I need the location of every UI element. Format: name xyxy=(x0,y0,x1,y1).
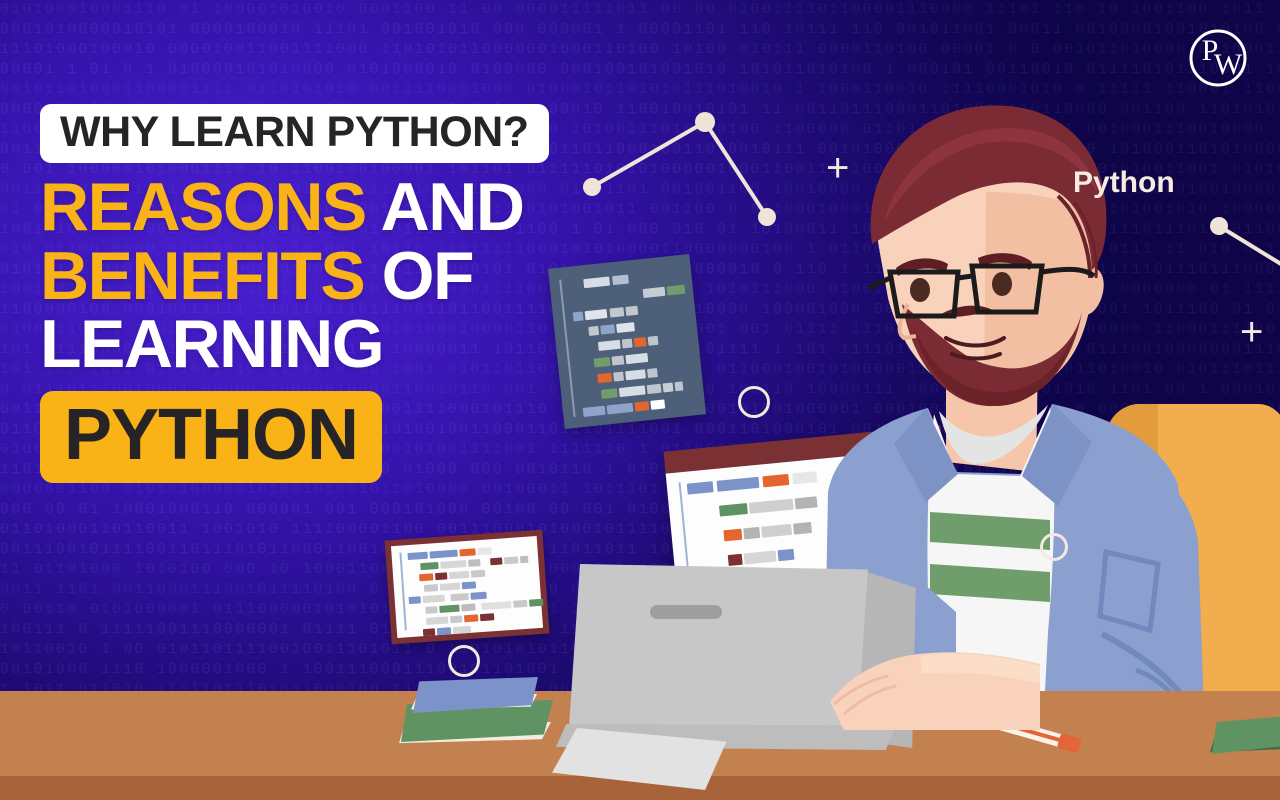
typing-hand xyxy=(800,640,1040,730)
code-block xyxy=(529,599,543,607)
laptop-logo-bar xyxy=(650,605,722,619)
headline-line-1: REASONS AND xyxy=(40,175,660,240)
code-block xyxy=(407,552,427,560)
headline-line-1-plain: AND xyxy=(381,169,524,245)
headline-line-1-accent: REASONS xyxy=(40,169,366,245)
code-block xyxy=(435,572,447,580)
code-block xyxy=(666,285,685,296)
code-block xyxy=(459,548,475,556)
pw-logo[interactable]: P W xyxy=(1182,22,1254,94)
headline-badge: PYTHON xyxy=(64,395,358,475)
code-block xyxy=(453,626,471,634)
headline-line-2-accent: BENEFITS xyxy=(40,238,364,314)
circle-outline-icon xyxy=(738,386,770,418)
poster-canvas: 010100010001110 01 100001010010 0001100 … xyxy=(0,0,1280,800)
code-block xyxy=(778,549,795,561)
code-block xyxy=(450,593,468,601)
code-block xyxy=(470,592,486,600)
code-block xyxy=(762,474,789,487)
circle-outline-icon xyxy=(448,645,480,677)
headline-block: WHY LEARN PYTHON? REASONS AND BENEFITS O… xyxy=(40,104,660,483)
code-block xyxy=(520,556,528,564)
headline-badge-pill: PYTHON xyxy=(40,391,382,483)
code-block xyxy=(423,595,445,604)
code-block xyxy=(761,524,792,538)
svg-text:W: W xyxy=(1214,48,1243,81)
headline-kicker: WHY LEARN PYTHON? xyxy=(60,108,529,156)
code-block xyxy=(420,562,438,570)
headline-kicker-pill: WHY LEARN PYTHON? xyxy=(40,104,549,163)
code-block xyxy=(449,571,469,579)
small-framed-screen xyxy=(385,530,550,645)
code-block xyxy=(439,605,459,613)
small-screen-surface xyxy=(391,536,543,638)
python-label: Python xyxy=(1073,166,1175,200)
plus-icon: + xyxy=(1240,312,1263,352)
code-block xyxy=(504,556,518,564)
code-block xyxy=(471,570,485,578)
small-screen-rail xyxy=(399,552,406,630)
code-block xyxy=(719,503,748,517)
pencil-eraser xyxy=(1057,733,1082,753)
code-block xyxy=(437,627,451,635)
code-block xyxy=(743,527,760,539)
code-block xyxy=(717,477,760,492)
code-block xyxy=(462,581,476,589)
code-block xyxy=(440,583,460,591)
code-block xyxy=(424,584,438,592)
code-block xyxy=(513,600,527,608)
code-block xyxy=(477,547,491,555)
headline-line-2-plain: OF xyxy=(382,238,473,314)
code-block xyxy=(423,628,435,636)
code-block xyxy=(426,616,448,625)
code-block xyxy=(480,613,494,621)
code-block xyxy=(419,573,433,581)
code-block xyxy=(490,557,502,565)
code-block xyxy=(723,529,742,542)
headline-line-3: LEARNING xyxy=(40,312,660,377)
code-block xyxy=(468,559,480,567)
code-block xyxy=(675,381,684,391)
code-block xyxy=(464,614,478,622)
headline-line-2: BENEFITS OF xyxy=(40,244,660,309)
code-block xyxy=(429,550,457,559)
code-block xyxy=(749,499,794,514)
code-block xyxy=(663,382,674,392)
code-block xyxy=(481,601,511,610)
code-block xyxy=(687,481,714,494)
code-block xyxy=(425,606,437,614)
code-block xyxy=(409,596,421,604)
code-block xyxy=(744,550,777,564)
code-block xyxy=(450,615,462,623)
code-block xyxy=(728,554,743,566)
code-block xyxy=(461,603,475,611)
code-block xyxy=(440,560,466,569)
headline-line-3-plain: LEARNING xyxy=(40,306,383,382)
